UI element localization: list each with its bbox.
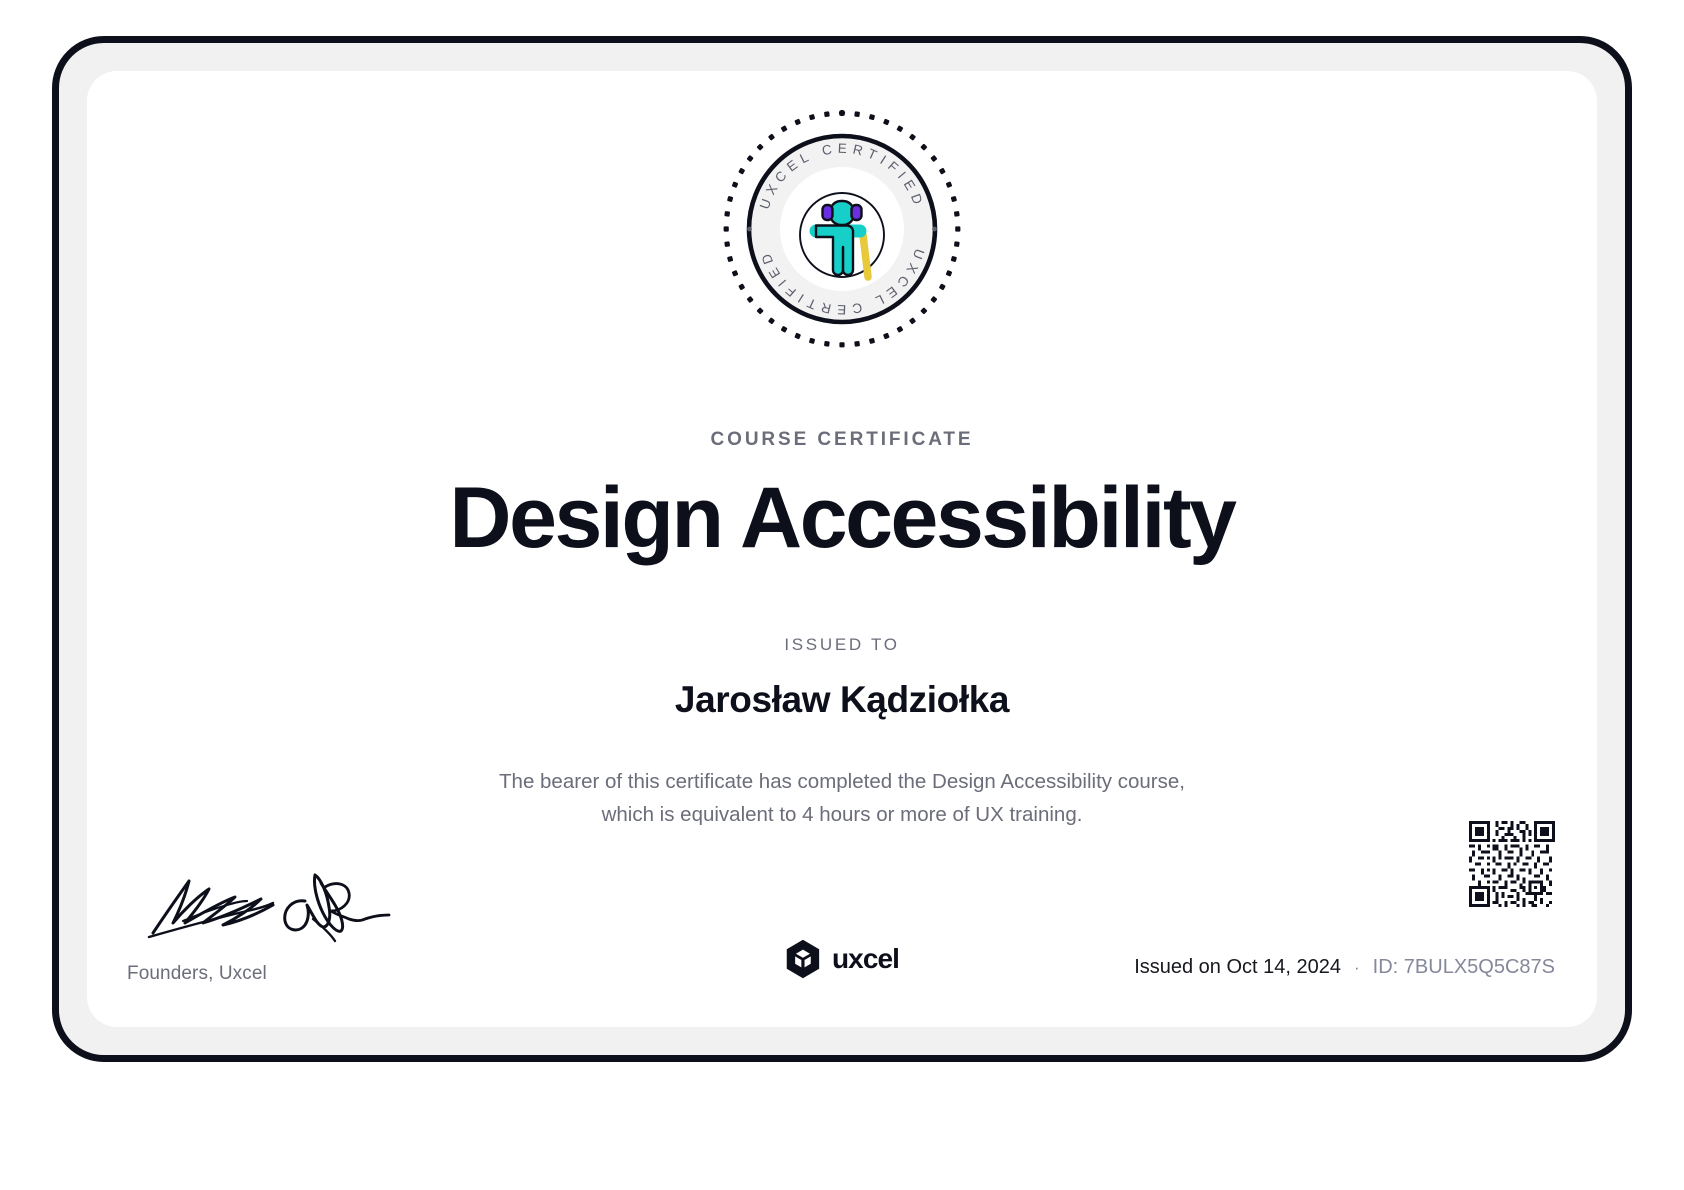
- brand-logo: uxcel: [785, 939, 899, 979]
- certificate-frame: UXCEL CERTIFIED UXCEL CERTIFIED: [52, 36, 1632, 1062]
- page-title: Design Accessibility: [87, 473, 1597, 563]
- certificate-card: UXCEL CERTIFIED UXCEL CERTIFIED: [87, 71, 1597, 1027]
- issued-on-date: Issued on Oct 14, 2024: [1134, 956, 1341, 979]
- uxcel-certified-seal-icon: UXCEL CERTIFIED UXCEL CERTIFIED: [720, 107, 964, 351]
- course-certificate-kicker: COURSE CERTIFICATE: [87, 429, 1597, 451]
- founders-signatures-icon: [127, 871, 457, 949]
- issued-to-label: ISSUED TO: [87, 635, 1597, 655]
- certificate-id: ID: 7BULX5Q5C87S: [1373, 956, 1555, 979]
- qr-code-icon[interactable]: [1469, 821, 1555, 907]
- certificate-footer: Founders, Uxcel uxcel Issued on Oct 14, …: [87, 797, 1597, 1027]
- recipient-name: Jarosław Kądziołka: [87, 679, 1597, 721]
- brand-wordmark: uxcel: [832, 943, 899, 975]
- description-line-1: The bearer of this certificate has compl…: [87, 765, 1597, 798]
- issue-meta: Issued on Oct 14, 2024 · ID: 7BULX5Q5C87…: [1134, 956, 1555, 979]
- uxcel-hexagon-logo-icon: [785, 939, 821, 979]
- founders-caption: Founders, Uxcel: [127, 963, 457, 985]
- signature-block: Founders, Uxcel: [127, 871, 457, 985]
- meta-separator: ·: [1354, 958, 1360, 978]
